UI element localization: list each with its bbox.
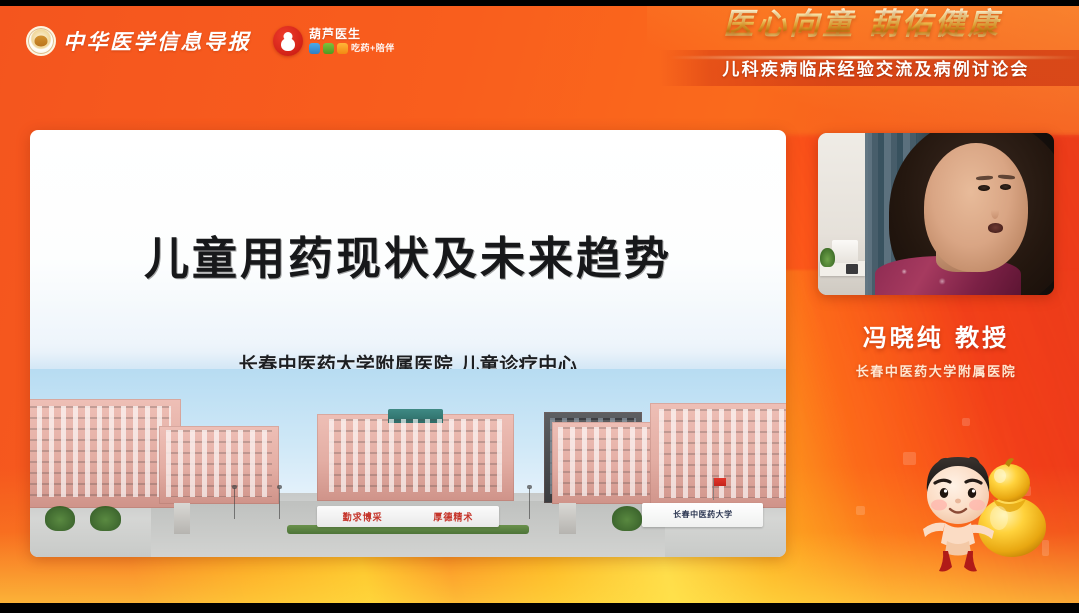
building-windows	[166, 430, 272, 496]
campus-gate-sign: 长春中医药大学	[642, 503, 763, 527]
event-title-divider	[669, 56, 1079, 59]
speaker-eyebrow-left	[976, 176, 993, 181]
campus-building-main	[317, 414, 514, 500]
speaker-eye-left	[978, 185, 989, 191]
badge-orange-icon	[337, 43, 348, 54]
sparkle-decoration	[856, 506, 865, 515]
campus-tree	[45, 506, 75, 530]
logo-china-medical-tribune: 中华医学信息导报	[26, 26, 251, 56]
speaker-mouth	[988, 223, 1004, 233]
campus-building-right-2	[552, 422, 658, 505]
logo-gourd-doctor: 葫芦医生 吃药+陪伴	[273, 26, 395, 56]
video-box-object	[832, 240, 858, 263]
calabash-boy-mascot	[909, 443, 1057, 575]
golden-gourd-icon	[978, 458, 1046, 557]
broadcast-stage: 中华医学信息导报 葫芦医生 吃药+陪伴 医心向童 葫佑健康 儿科疾病临床经验交流…	[0, 0, 1079, 613]
campus-building-left-2	[159, 426, 280, 505]
letterbox-top-bar	[0, 0, 1079, 6]
badge-blue-icon	[309, 43, 320, 54]
event-subtitle: 儿科疾病临床经验交流及病例讨论会	[722, 60, 1029, 80]
gourd-doctor-logo-icon	[273, 26, 303, 56]
letterbox-bottom-bar	[0, 603, 1079, 613]
video-small-object	[846, 264, 858, 274]
speaker-video-feed[interactable]	[818, 133, 1054, 295]
speaker-eyebrow-right	[998, 174, 1015, 179]
speaker-nose	[991, 204, 999, 220]
campus-gate-pillar	[559, 503, 576, 535]
logo-secondary-name: 葫芦医生	[309, 28, 395, 40]
campus-motto-wall: 勤求博采 厚德精术	[317, 506, 498, 527]
campus-photo: 勤求博采 厚德精术 长春中医药大学	[30, 369, 786, 557]
campus-motto-right: 厚德精术	[433, 509, 473, 523]
event-title: 医心向童 葫佑健康	[659, 8, 1079, 41]
speaker-caption: 冯晓纯 教授 长春中医药大学附属医院	[818, 318, 1054, 380]
logo-primary-name: 中华医学信息导报	[63, 26, 251, 56]
video-plant	[820, 248, 834, 267]
speaker-organization: 长春中医药大学附属医院	[818, 361, 1054, 380]
gourd-doctor-text: 葫芦医生 吃药+陪伴	[309, 28, 395, 54]
building-windows	[30, 406, 171, 498]
medical-association-emblem-icon	[26, 26, 56, 56]
campus-tree	[90, 506, 120, 530]
street-lamp-icon	[279, 488, 280, 520]
campus-gate-sign-text: 长春中医药大学	[673, 509, 733, 520]
speaker-name: 冯晓纯 教授	[818, 318, 1054, 353]
street-lamp-icon	[529, 488, 530, 520]
campus-motto-left: 勤求博采	[343, 509, 383, 523]
street-lamp-icon	[234, 488, 235, 520]
campus-gate-pillar	[174, 503, 191, 535]
speaker-eye-right	[1000, 184, 1011, 190]
sparkle-decoration	[962, 418, 970, 426]
building-windows	[558, 427, 651, 496]
building-windows	[329, 419, 502, 492]
event-banner: 医心向童 葫佑健康 儿科疾病临床经验交流及病例讨论会	[659, 8, 1079, 86]
campus-flag-icon	[714, 478, 726, 486]
campus-tree	[612, 506, 642, 530]
speaker-face	[924, 143, 1028, 273]
campus-building-right-1	[650, 403, 786, 508]
logo-secondary-slogan: 吃药+陪伴	[351, 44, 395, 53]
app-store-badges: 吃药+陪伴	[309, 43, 395, 54]
mascot-illustration-icon	[909, 443, 1057, 575]
header-logo-row: 中华医学信息导报 葫芦医生 吃药+陪伴	[26, 26, 395, 56]
slide-title: 儿童用药现状及未来趋势	[30, 222, 786, 287]
badge-green-icon	[323, 43, 334, 54]
presentation-slide[interactable]: 儿童用药现状及未来趋势 长春中医药大学附属医院 儿童诊疗中心 长春中医药大学附属…	[30, 130, 786, 557]
